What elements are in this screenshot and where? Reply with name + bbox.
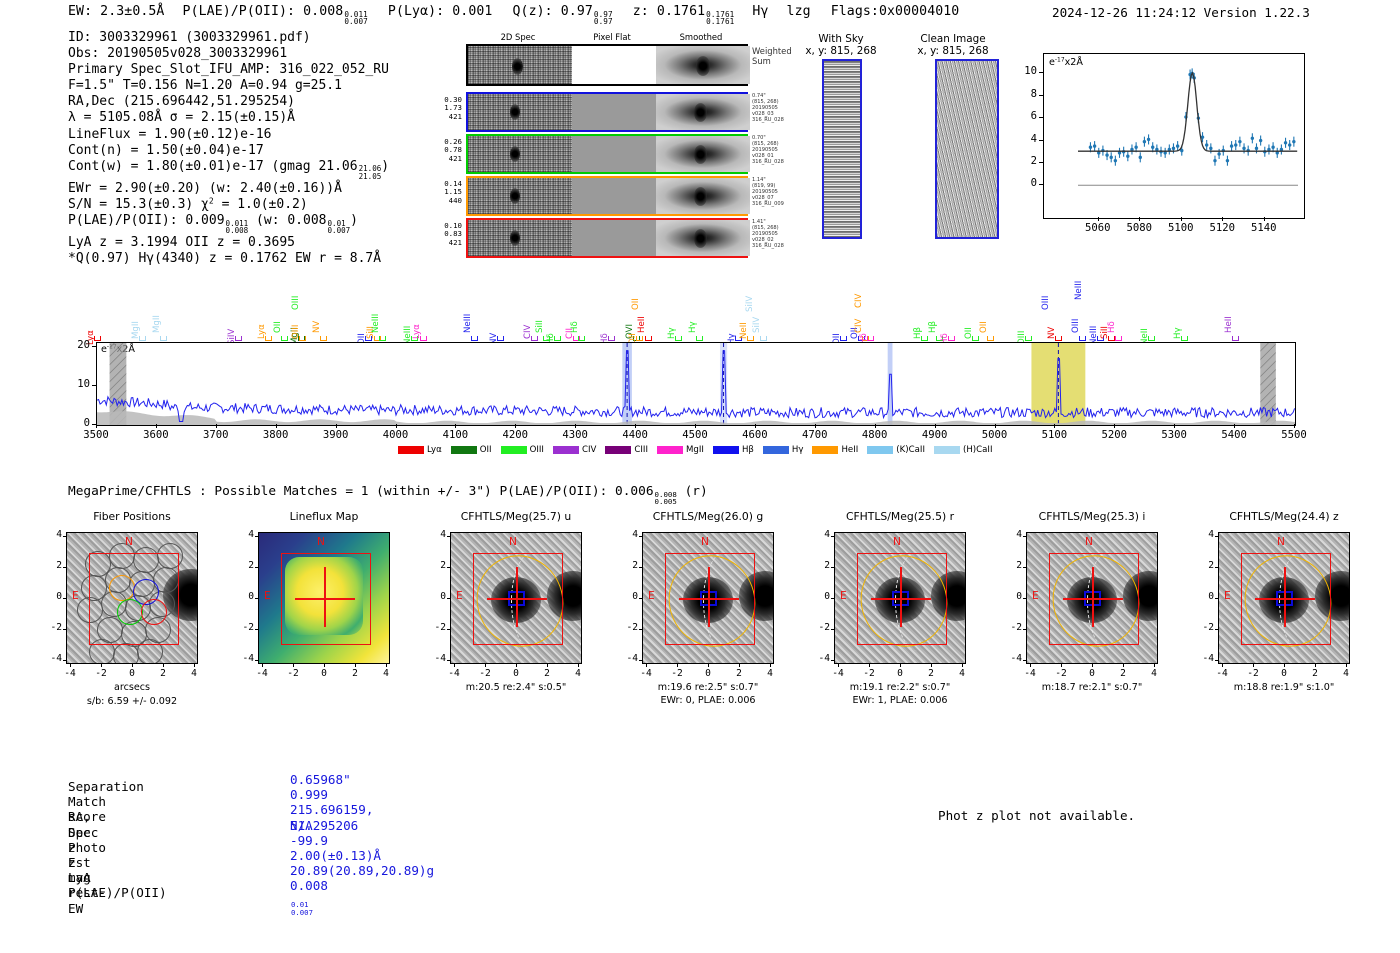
cutout-xtick bbox=[1253, 664, 1254, 667]
cutout-xtick-label: -2 bbox=[665, 668, 689, 679]
info-primary-spec: Primary Spec_Slot_IFU_AMP: 316_022_052_R… bbox=[68, 62, 389, 78]
cutout-ytick bbox=[831, 567, 834, 568]
spectral-blob bbox=[510, 188, 520, 204]
col-header-2d-spec: 2D Spec bbox=[466, 32, 570, 42]
cutout-xtick-label: 2 bbox=[1111, 668, 1135, 679]
header-plae-errors: 0.0110.007 bbox=[344, 11, 368, 27]
cutout-xtick-label: 2 bbox=[151, 668, 175, 679]
spectrum-xtick bbox=[1294, 424, 1295, 428]
cutout-ytick bbox=[447, 629, 450, 630]
fiber-row-1-pixel-flat bbox=[572, 136, 656, 172]
cutout-caption-4: m:19.1 re:2.2" s:0.7" bbox=[805, 682, 995, 694]
cutout-ytick bbox=[1215, 660, 1218, 661]
spectrum-xtick bbox=[216, 424, 217, 428]
info-lambda-sigma: λ = 5105.08Å σ = 2.15(±0.15)Å bbox=[68, 110, 389, 126]
spectral-blob bbox=[510, 230, 520, 246]
cutout-ytick-label: 2 bbox=[234, 560, 254, 571]
cutout-xtick bbox=[101, 664, 102, 667]
cutout-xtick-label: 0 bbox=[1080, 668, 1104, 679]
table-value-5: 2.00(±0.13)Å bbox=[290, 848, 381, 863]
cutout-ytick bbox=[447, 567, 450, 568]
legend-item-OII: OII bbox=[451, 445, 492, 455]
cutout-ytick bbox=[63, 567, 66, 568]
full-spectrum-plot: e-17x2Å bbox=[96, 342, 1296, 426]
cutout-ytick-label: 4 bbox=[234, 529, 254, 540]
lineplot-ytick-label: 2 bbox=[1017, 155, 1037, 167]
cutout-ytick bbox=[639, 567, 642, 568]
spectrum-xtick bbox=[635, 424, 636, 428]
cutout-xtick bbox=[163, 664, 164, 667]
header-line-id: Hγ bbox=[742, 4, 768, 19]
cutout-xtick bbox=[1154, 664, 1155, 667]
legend-label-HeII: HeII bbox=[841, 445, 858, 455]
cutout-caption-2: m:20.5 re:2.4" s:0.5" bbox=[421, 682, 611, 694]
cutout-ytick bbox=[639, 536, 642, 537]
cutout-xtick-label: 2 bbox=[727, 668, 751, 679]
info-radec: RA,Dec (215.696442,51.295254) bbox=[68, 94, 389, 110]
spectrum-xtick-label: 4400 bbox=[613, 429, 657, 441]
cutout-image-4: NE bbox=[834, 532, 966, 664]
cutout-ytick-label: 0 bbox=[1002, 591, 1022, 602]
cutout-xtick bbox=[454, 664, 455, 667]
legend-swatch-Hβ bbox=[713, 446, 739, 454]
cutout-caption2-4: EWr: 1, PLAE: 0.006 bbox=[805, 695, 995, 707]
spectrum-xtick-label: 4200 bbox=[493, 429, 537, 441]
spectrum-xtick-label: 3900 bbox=[314, 429, 358, 441]
info-q-line: *Q(0.97) Hγ(4340) z = 0.1762 EW r = 8.7Å bbox=[68, 251, 389, 267]
cutout-xtick bbox=[1092, 664, 1093, 667]
megaprime-match-line: MegaPrime/CFHTLS : Possible Matches = 1 … bbox=[68, 484, 708, 506]
lineplot-ytick bbox=[1039, 117, 1043, 118]
legend-item-CIII: CIII bbox=[605, 445, 648, 455]
line-marker-NeIII: NeIII bbox=[371, 314, 381, 333]
cutout-xtick-label: -2 bbox=[473, 668, 497, 679]
with-sky-title: With Skyx, y: 815, 268 bbox=[796, 33, 886, 58]
lineplot-ytick-label: 10 bbox=[1017, 65, 1037, 77]
lineplot-ytick bbox=[1039, 184, 1043, 185]
cutout-xtick bbox=[1061, 664, 1062, 667]
spectrum-xtick-label: 4100 bbox=[433, 429, 477, 441]
line-marker-bracket bbox=[987, 336, 994, 341]
cutout-ytick-label: 2 bbox=[1002, 560, 1022, 571]
cutout-ytick-label: 4 bbox=[1002, 529, 1022, 540]
header-summary-line: EW: 2.3±0.5Å P(LAE)/P(OII): 0.0080.0110.… bbox=[68, 4, 959, 26]
legend-swatch-(K)CaII bbox=[867, 446, 893, 454]
line-marker-bracket bbox=[160, 336, 167, 341]
line-marker-bracket bbox=[696, 336, 703, 341]
lineplot-ytick bbox=[1039, 72, 1043, 73]
header-qz-value: 0.97 bbox=[561, 4, 593, 19]
spectrum-legend: LyαOIIOIIICIVCIIIMgIIHβHγHeII(K)CaII(H)C… bbox=[398, 445, 1002, 457]
clean-image-title: Clean Imagex, y: 815, 268 bbox=[898, 33, 1008, 58]
fiber-row-3-smoothed bbox=[656, 220, 750, 256]
cutout-ytick bbox=[255, 536, 258, 537]
line-marker-bracket bbox=[1115, 336, 1122, 341]
line-marker-Hδ: Hδ bbox=[570, 321, 580, 333]
cutout-ytick-label: 2 bbox=[426, 560, 446, 571]
spectrum-xtick-label: 3600 bbox=[134, 429, 178, 441]
cutout-xtick-label: -4 bbox=[634, 668, 658, 679]
cutout-xtick bbox=[739, 664, 740, 667]
legend-label-CIII: CIII bbox=[634, 445, 648, 455]
fiber-row-2-metadata: 1.14"(819, 99)20190505v028_07316_RU_009 bbox=[752, 177, 812, 207]
cutout-ytick bbox=[1215, 598, 1218, 599]
cutout-ytick-label: 0 bbox=[1194, 591, 1214, 602]
cutout-ytick bbox=[1215, 536, 1218, 537]
lineplot-ytick-label: 8 bbox=[1017, 88, 1037, 100]
cutout-ytick bbox=[1023, 629, 1026, 630]
lineplot-xtick-label: 5080 bbox=[1122, 222, 1156, 234]
cutout-xtick-label: 0 bbox=[888, 668, 912, 679]
spectrum-xtick bbox=[1054, 424, 1055, 428]
header-ew: EW: 2.3±0.5Å bbox=[68, 4, 164, 19]
cutout-ytick bbox=[1215, 629, 1218, 630]
fiber-row-0-2d-spec bbox=[468, 94, 572, 130]
lineplot-xtick-label: 5100 bbox=[1164, 222, 1198, 234]
cutout-compass-n: N bbox=[893, 536, 901, 548]
line-marker-bracket bbox=[265, 336, 272, 341]
lineflux-crosshair-v bbox=[324, 567, 326, 627]
cutout-ytick-label: -2 bbox=[618, 622, 638, 633]
line-marker-Hγ: Hγ bbox=[688, 321, 698, 333]
legend-label-OIII: OIII bbox=[530, 445, 544, 455]
spectrum-ytick bbox=[92, 385, 96, 386]
line-marker-bracket bbox=[747, 336, 754, 341]
table-value-1: 0.999 bbox=[290, 787, 328, 802]
lineplot-ytick bbox=[1039, 140, 1043, 141]
cutout-xtick bbox=[931, 664, 932, 667]
spectrum-xtick bbox=[575, 424, 576, 428]
cutout-caption-5: m:18.7 re:2.1" s:0.7" bbox=[997, 682, 1187, 694]
lineplot-xtick bbox=[1139, 217, 1140, 221]
legend-item-CIV: CIV bbox=[553, 445, 596, 455]
cutout-xtick bbox=[1222, 664, 1223, 667]
fiber-row-3-metadata: 1.41"(815, 268)20190505v028_02316_RU_028 bbox=[752, 219, 812, 249]
spectrum-ytick-label: 0 bbox=[66, 417, 90, 429]
legend-label-(H)CaII: (H)CaII bbox=[963, 445, 993, 455]
cutout-ytick-label: -4 bbox=[234, 653, 254, 664]
spectrum-xtick bbox=[995, 424, 996, 428]
line-marker-CIV-high: CIV bbox=[854, 294, 864, 308]
cutout-xtick bbox=[1030, 664, 1031, 667]
cutout-ytick bbox=[1023, 536, 1026, 537]
cutout-ytick-label: 2 bbox=[1194, 560, 1214, 571]
cutout-xtick bbox=[962, 664, 963, 667]
spectrum-xtick-label: 4300 bbox=[553, 429, 597, 441]
table-value-4: -99.9 bbox=[290, 833, 328, 848]
line-marker-CIV: CIV bbox=[854, 319, 864, 333]
spectrum-ytick bbox=[92, 346, 96, 347]
info-cont-n: Cont(n) = 1.50(±0.04)e-17 bbox=[68, 143, 389, 159]
fiber-row-1-metadata: 0.70"(815, 268)20190505v028_01316_RU_028 bbox=[752, 135, 812, 165]
cutout-ytick bbox=[639, 660, 642, 661]
lineplot-xtick bbox=[1098, 217, 1099, 221]
cutout-xtick-label: -2 bbox=[281, 668, 305, 679]
cutout-xtick bbox=[708, 664, 709, 667]
cutout-ytick bbox=[831, 536, 834, 537]
cutout-caption-3: m:19.6 re:2.5" s:0.7" bbox=[613, 682, 803, 694]
spectrum-xtick bbox=[1114, 424, 1115, 428]
fiber-row-0-pixel-flat bbox=[572, 94, 656, 130]
cutout-ytick bbox=[639, 598, 642, 599]
cutout-crosshair-v bbox=[1284, 567, 1286, 627]
cutout-xtick bbox=[324, 664, 325, 667]
cutout-xtick-label: 4 bbox=[1142, 668, 1166, 679]
cutout-xtick bbox=[1315, 664, 1316, 667]
lineplot-xtick-label: 5060 bbox=[1081, 222, 1115, 234]
clean-image bbox=[935, 59, 999, 239]
fiber-row-2-pixel-flat bbox=[572, 178, 656, 214]
spectrum-xtick bbox=[1174, 424, 1175, 428]
line-marker-bracket bbox=[760, 336, 767, 341]
legend-label-(K)CaII: (K)CaII bbox=[896, 445, 925, 455]
info-snr-chi2: S/N = 15.3(±0.3) χ2 = 1.0(±0.2) bbox=[68, 197, 389, 213]
cutout-ytick-label: -4 bbox=[618, 653, 638, 664]
lineplot-ytick bbox=[1039, 162, 1043, 163]
legend-swatch-Hγ bbox=[763, 446, 789, 454]
spectrum-xtick-label: 4900 bbox=[913, 429, 957, 441]
cutout-xtick-label: -4 bbox=[1018, 668, 1042, 679]
cutout-xtick-label: -4 bbox=[250, 668, 274, 679]
line-marker-bracket bbox=[675, 336, 682, 341]
line-marker-OIII-high2: OIII bbox=[1041, 296, 1051, 310]
cutout-title-1: Lineflux Map bbox=[234, 510, 414, 523]
line-marker-bracket bbox=[1108, 336, 1115, 341]
info-ewr: EWr = 2.90(±0.20) (w: 2.40(±0.16))Å bbox=[68, 181, 389, 197]
line-marker-HeII: HeII bbox=[1224, 316, 1234, 333]
weighted-sum-2d-spec bbox=[468, 46, 572, 84]
fiber-row-3 bbox=[466, 218, 748, 258]
cutout-xtick bbox=[1123, 664, 1124, 667]
cutout-xtick bbox=[132, 664, 133, 667]
line-marker-bracket bbox=[1055, 336, 1062, 341]
legend-item-HeII: HeII bbox=[812, 445, 858, 455]
cutout-compass-n: N bbox=[125, 536, 133, 548]
cutout-xtick-label: 4 bbox=[374, 668, 398, 679]
fiber-row-1-left-labels: 0.260.78421 bbox=[424, 138, 462, 163]
cutout-ytick bbox=[639, 629, 642, 630]
cutout-image-5: NE bbox=[1026, 532, 1158, 664]
weighted-sum-smoothed bbox=[656, 46, 750, 84]
cutout-crosshair-v bbox=[1092, 567, 1094, 627]
spectrum-xtick bbox=[156, 424, 157, 428]
weighted-sum-row bbox=[466, 44, 748, 86]
fiber-row-0-left-labels: 0.301.73421 bbox=[424, 96, 462, 121]
cutout-ytick bbox=[831, 660, 834, 661]
table-label-7: P(LAE)/P(OII) bbox=[68, 885, 167, 900]
fiber-row-1-2d-spec bbox=[468, 136, 572, 172]
line-marker-bracket bbox=[645, 336, 652, 341]
cutout-ytick bbox=[63, 660, 66, 661]
line-marker-OIII-high: OIII bbox=[291, 296, 301, 310]
cutout-compass-e: E bbox=[72, 590, 79, 602]
header-classification: lzg bbox=[777, 4, 811, 19]
table-value-6: 20.89(20.89,20.89)g bbox=[290, 863, 434, 878]
fiber-row-3-pixel-flat bbox=[572, 220, 656, 256]
cutout-ytick-label: 0 bbox=[234, 591, 254, 602]
legend-label-Hγ: Hγ bbox=[792, 445, 804, 455]
fiber-row-0 bbox=[466, 92, 748, 132]
line-marker-bracket bbox=[320, 336, 327, 341]
line-marker-SiIV-high: SiIV bbox=[745, 296, 755, 312]
spectrum-xtick-label: 4500 bbox=[673, 429, 717, 441]
legend-item-Hβ: Hβ bbox=[713, 445, 754, 455]
cutout-xtick bbox=[900, 664, 901, 667]
cutout-ytick-label: 2 bbox=[810, 560, 830, 571]
line-marker-SiIV: SiIV bbox=[752, 317, 762, 333]
fiber-row-0-metadata: 0.74"(815, 268)20190505v028_03316_RU_028 bbox=[752, 93, 812, 123]
cutout-xtick bbox=[386, 664, 387, 667]
cutout-image-2: NE bbox=[450, 532, 582, 664]
line-marker-bracket bbox=[840, 336, 847, 341]
line-marker-bracket bbox=[948, 336, 955, 341]
lineplot-xtick bbox=[1222, 217, 1223, 221]
cutout-xlabel-0: arcsecs bbox=[37, 682, 227, 694]
cutout-xtick-label: 0 bbox=[696, 668, 720, 679]
legend-swatch-CIV bbox=[553, 446, 579, 454]
line-marker-NeIII-high: NeIII bbox=[1074, 281, 1084, 300]
legend-item-(K)CaII: (K)CaII bbox=[867, 445, 925, 455]
lineplot-ytick bbox=[1039, 95, 1043, 96]
cutout-compass-n: N bbox=[317, 536, 325, 548]
cutout-xtick-label: -2 bbox=[857, 668, 881, 679]
line-marker-bracket bbox=[1025, 336, 1032, 341]
line-marker-bracket bbox=[972, 336, 979, 341]
cutout-ytick-label: 0 bbox=[426, 591, 446, 602]
line-marker-bracket bbox=[420, 336, 427, 341]
spectrum-xtick-label: 4600 bbox=[733, 429, 777, 441]
fiber-row-2 bbox=[466, 176, 748, 216]
timestamp-version: 2024-12-26 11:24:12 Version 1.22.3 bbox=[1052, 5, 1310, 20]
cutout-title-5: CFHTLS/Meg(25.3) i bbox=[1002, 510, 1182, 523]
line-marker-Hβ: Hβ bbox=[928, 321, 938, 333]
object-info-block: ID: 3003329961 (3003329961.pdf) Obs: 201… bbox=[68, 30, 389, 267]
cutout-xtick bbox=[485, 664, 486, 667]
line-marker-bracket bbox=[531, 336, 538, 341]
cutout-ytick-label: 2 bbox=[42, 560, 62, 571]
cutout-xtick bbox=[1346, 664, 1347, 667]
cutout-ytick-label: 4 bbox=[42, 529, 62, 540]
lineplot-ytick-label: 4 bbox=[1017, 133, 1037, 145]
line-marker-bracket bbox=[554, 336, 561, 341]
line-marker-bracket bbox=[921, 336, 928, 341]
line-marker-MgII: MgII bbox=[152, 315, 162, 333]
spectrum-xtick-label: 5200 bbox=[1092, 429, 1136, 441]
cutout-ytick bbox=[831, 598, 834, 599]
cutout-ytick-label: 4 bbox=[1194, 529, 1214, 540]
spectrum-xtick-label: 5000 bbox=[973, 429, 1017, 441]
cutout-xtick bbox=[547, 664, 548, 667]
cutout-compass-e: E bbox=[648, 590, 655, 602]
line-marker-bracket bbox=[1148, 336, 1155, 341]
spectral-blob bbox=[510, 104, 520, 120]
cutout-crosshair-v bbox=[900, 567, 902, 627]
line-marker-OII: OII bbox=[273, 321, 283, 333]
lineplot-xtick-label: 5120 bbox=[1205, 222, 1239, 234]
spectrum-xtick bbox=[695, 424, 696, 428]
header-plya-label: P(Lyα): bbox=[376, 4, 444, 19]
table-value-7: 0.0080.010.007 bbox=[290, 878, 328, 916]
cutout-compass-n: N bbox=[1277, 536, 1285, 548]
cutout-ytick-label: 2 bbox=[618, 560, 638, 571]
cutout-compass-e: E bbox=[456, 590, 463, 602]
line-marker-bracket bbox=[636, 336, 643, 341]
cutout-compass-e: E bbox=[1224, 590, 1231, 602]
spectrum-xtick-label: 5300 bbox=[1152, 429, 1196, 441]
header-z-label: z: bbox=[621, 4, 649, 19]
cutout-xtick-label: 2 bbox=[343, 668, 367, 679]
legend-swatch-Lyα bbox=[398, 446, 424, 454]
cutout-ytick-label: 0 bbox=[810, 591, 830, 602]
cutout-red-box bbox=[89, 553, 179, 645]
spectrum-xtick-label: 3500 bbox=[74, 429, 118, 441]
cutout-xtick bbox=[262, 664, 263, 667]
emission-line-profile-plot: e-17x2Å bbox=[1043, 53, 1305, 219]
line-marker-bracket bbox=[1079, 336, 1086, 341]
spectrum-xtick-label: 4800 bbox=[853, 429, 897, 441]
cutout-xtick bbox=[770, 664, 771, 667]
line-marker-Hδ: Hδ bbox=[1107, 321, 1117, 333]
line-marker-bracket bbox=[1181, 336, 1188, 341]
legend-label-Hβ: Hβ bbox=[742, 445, 754, 455]
cutout-xtick bbox=[646, 664, 647, 667]
info-redshifts: LyA z = 3.1994 OII z = 0.3695 bbox=[68, 235, 389, 251]
fiber-row-2-smoothed bbox=[656, 178, 750, 214]
legend-swatch-OII bbox=[451, 446, 477, 454]
line-marker-bracket bbox=[608, 336, 615, 341]
line-marker-OII: OII bbox=[979, 321, 989, 333]
header-z-value: 0.1761 bbox=[657, 4, 705, 19]
cutout-ytick bbox=[447, 536, 450, 537]
line-marker-OII-high: OII bbox=[631, 298, 641, 310]
legend-item-OIII: OIII bbox=[501, 445, 544, 455]
cutout-xtick-label: 4 bbox=[758, 668, 782, 679]
cutout-ytick-label: -4 bbox=[810, 653, 830, 664]
cutout-ytick bbox=[1023, 660, 1026, 661]
with-sky-image bbox=[822, 59, 862, 239]
legend-label-Lyα: Lyα bbox=[427, 445, 442, 455]
spectrum-xtick bbox=[336, 424, 337, 428]
line-marker-bracket bbox=[471, 336, 478, 341]
line-marker-bracket bbox=[497, 336, 504, 341]
cutout-xtick-label: 0 bbox=[1272, 668, 1296, 679]
fiber-row-3-left-labels: 0.100.83421 bbox=[424, 222, 462, 247]
cutout-ytick bbox=[447, 660, 450, 661]
cutout-caption2-3: EWr: 0, PLAE: 0.006 bbox=[613, 695, 803, 707]
col-header-smoothed: Smoothed bbox=[654, 32, 748, 42]
header-plae-label: P(LAE)/P(OII): bbox=[173, 4, 296, 19]
cutout-compass-e: E bbox=[840, 590, 847, 602]
table-label-6: mag bbox=[68, 870, 91, 885]
cutout-compass-n: N bbox=[701, 536, 709, 548]
cutout-xtick-label: 4 bbox=[566, 668, 590, 679]
cutout-ytick-label: 4 bbox=[426, 529, 446, 540]
cutout-xtick bbox=[869, 664, 870, 667]
spectrum-xtick bbox=[276, 424, 277, 428]
cutout-caption-0: s/b: 6.59 +/- 0.092 bbox=[37, 696, 227, 708]
line-marker-bracket bbox=[1232, 336, 1239, 341]
cutout-crosshair-v bbox=[516, 567, 518, 627]
cutout-ytick-label: -2 bbox=[426, 622, 446, 633]
cutout-ytick-label: -2 bbox=[234, 622, 254, 633]
cutout-title-0: Fiber Positions bbox=[42, 510, 222, 523]
cutout-xtick-label: 0 bbox=[120, 668, 144, 679]
fiber-circle bbox=[113, 643, 139, 664]
spectrum-xtick bbox=[815, 424, 816, 428]
legend-swatch-CIII bbox=[605, 446, 631, 454]
header-qz-errors: 0.970.97 bbox=[594, 11, 613, 27]
cutout-xtick-label: 4 bbox=[950, 668, 974, 679]
